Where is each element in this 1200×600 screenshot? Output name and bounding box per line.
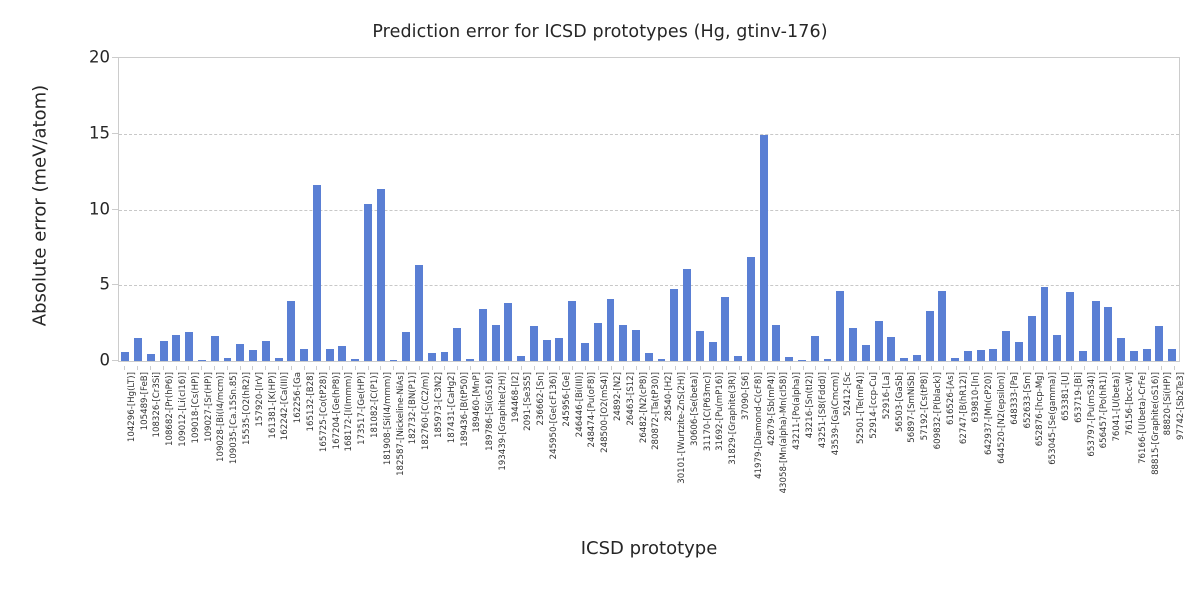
bar-slot <box>515 58 528 361</box>
x-tick-mark <box>1097 366 1098 370</box>
x-tick-mark <box>943 366 944 370</box>
x-tick-mark <box>777 366 778 370</box>
bar-slot <box>681 58 694 361</box>
bar <box>1130 351 1138 361</box>
y-tick-mark <box>112 360 118 361</box>
bar-series <box>119 58 1179 361</box>
bar-slot <box>821 58 834 361</box>
bar-slot <box>374 58 387 361</box>
x-tick-slot: 97742-[Sb2Te3] <box>1167 366 1180 526</box>
x-tick-mark <box>918 366 919 370</box>
x-tick-slot: 162256-[Ga <box>284 366 297 526</box>
x-tick-mark <box>150 366 151 370</box>
bar <box>121 352 129 361</box>
x-tick-mark <box>969 366 970 370</box>
bar <box>390 360 398 361</box>
bar <box>1104 307 1112 361</box>
bar-slot <box>898 58 911 361</box>
x-tick-mark <box>867 366 868 370</box>
bar-slot <box>451 58 464 361</box>
bar-slot <box>1127 58 1140 361</box>
bar-slot <box>745 58 758 361</box>
x-tick-mark <box>457 366 458 370</box>
bar <box>1066 292 1074 361</box>
x-tick-mark <box>726 366 727 370</box>
x-tick-mark <box>508 366 509 370</box>
x-tick-slot: 57192-[Cs(tP8)] <box>911 366 924 526</box>
bar-slot <box>885 58 898 361</box>
x-tick-slot: 109018-[Cs(HP)] <box>182 366 195 526</box>
x-tick-slot: 280872-[Ta(tP30)] <box>643 366 656 526</box>
x-tick-mark <box>419 366 420 370</box>
bar <box>441 352 449 361</box>
x-tick-mark <box>739 366 740 370</box>
bar-slot <box>1115 58 1128 361</box>
x-tick-mark <box>675 366 676 370</box>
bar <box>849 328 857 361</box>
bar <box>262 341 270 361</box>
y-tick-label: 5 <box>20 275 110 294</box>
bar-slot <box>847 58 860 361</box>
bar <box>900 358 908 361</box>
bar <box>658 359 666 361</box>
bar-slot <box>528 58 541 361</box>
x-tick-slot: 161381-[K(HP)] <box>259 366 272 526</box>
bar-slot <box>642 58 655 361</box>
x-tick-slot: 43251-[S8(Fddd)] <box>809 366 822 526</box>
x-tick-slot: 189436-[B(tP50)] <box>451 366 464 526</box>
bar <box>734 356 742 361</box>
x-tick-slot: 248474-[Pu(oF8)] <box>579 366 592 526</box>
x-tick-mark <box>521 366 522 370</box>
x-tick-mark <box>278 366 279 370</box>
bar <box>709 342 717 361</box>
bar <box>275 358 283 361</box>
x-tick-slot: 52914-[ccp-Cu] <box>860 366 873 526</box>
bar <box>172 335 180 361</box>
x-axis-ticks: 104296-[Hg(LT)]105489-[FeB]108326-[Cr3Si… <box>118 366 1180 526</box>
x-tick-mark <box>559 366 560 370</box>
bar <box>198 360 206 361</box>
bar <box>760 135 768 361</box>
bar <box>236 344 244 361</box>
x-tick-mark <box>1161 366 1162 370</box>
x-tick-slot: 652633-[Sm] <box>1014 366 1027 526</box>
bar-slot <box>706 58 719 361</box>
bar <box>1053 335 1061 362</box>
x-tick-mark <box>931 366 932 370</box>
bar <box>402 332 410 361</box>
x-tick-mark <box>496 366 497 370</box>
bar <box>1117 338 1125 361</box>
x-tick-slot: 37090-[S6] <box>732 366 745 526</box>
bar-slot <box>1000 58 1013 361</box>
y-tick-mark <box>112 209 118 210</box>
bar-slot <box>949 58 962 361</box>
bar <box>811 336 819 361</box>
bar-slot <box>259 58 272 361</box>
x-tick-slot: 88820-[Si(HP)] <box>1155 366 1168 526</box>
x-tick-slot: 642937-[Mn(cP20)] <box>975 366 988 526</box>
bar <box>351 359 359 361</box>
x-tick-mark <box>803 366 804 370</box>
x-tick-mark <box>982 366 983 370</box>
x-tick-slot: 30606-[Se(beta)] <box>681 366 694 526</box>
bar <box>683 269 691 361</box>
x-tick-slot: 52501-[Te(mP4)] <box>847 366 860 526</box>
x-tick-slot: 248500-[O2(mS4)] <box>591 366 604 526</box>
x-tick-mark <box>585 366 586 370</box>
x-tick-slot: 157920-[IrV] <box>246 366 259 526</box>
bar-slot <box>349 58 362 361</box>
bar-slot <box>323 58 336 361</box>
x-tick-slot: 105489-[FeB] <box>131 366 144 526</box>
x-tick-slot: 194468-[I2] <box>502 366 515 526</box>
x-tick-slot: 109028-[Bi(I4/mcm)] <box>208 366 221 526</box>
x-tick-mark <box>176 366 177 370</box>
bar-slot <box>591 58 604 361</box>
bar-slot <box>502 58 515 361</box>
x-tick-slot: 26463-[S12] <box>617 366 630 526</box>
chart-figure: Prediction error for ICSD prototypes (Hg… <box>0 0 1200 600</box>
bar-slot <box>1038 58 1051 361</box>
x-tick-slot: 162242-[Ca(III)] <box>272 366 285 526</box>
x-tick-mark <box>163 366 164 370</box>
bar <box>1015 342 1023 361</box>
x-tick-mark <box>214 366 215 370</box>
bar <box>1092 301 1100 361</box>
x-tick-mark <box>815 366 816 370</box>
x-tick-slot: 245956-[Ge] <box>553 366 566 526</box>
x-tick-mark <box>1071 366 1072 370</box>
bar-slot <box>987 58 1000 361</box>
x-tick-slot: 656457-[Po(hR1)] <box>1091 366 1104 526</box>
x-tick-slot: 28540-[H2] <box>655 366 668 526</box>
x-tick-mark <box>879 366 880 370</box>
y-tick-mark <box>112 284 118 285</box>
plot-area <box>118 57 1180 362</box>
bar-slot <box>336 58 349 361</box>
x-tick-slot: 43216-[Sn(tI2)] <box>796 366 809 526</box>
x-tick-slot: 109027-[Sr(HP)] <box>195 366 208 526</box>
bar-slot <box>285 58 298 361</box>
bar-slot <box>476 58 489 361</box>
y-tick-label: 15 <box>20 123 110 142</box>
x-tick-slot: 168172-[I(Immm)] <box>336 366 349 526</box>
y-tick-label: 20 <box>20 48 110 67</box>
bar-slot <box>400 58 413 361</box>
bar-slot <box>1025 58 1038 361</box>
bar-slot <box>1089 58 1102 361</box>
x-tick-slot: 652876-[hcp-Mg] <box>1027 366 1040 526</box>
bar <box>721 297 729 361</box>
bar <box>249 350 257 361</box>
y-tick-label: 10 <box>20 199 110 218</box>
x-tick-slot: 43058-[Mn(alpha)-Mn(cI58)] <box>771 366 784 526</box>
bar <box>594 323 602 361</box>
x-tick-slot: 167204-[Ge(hP8)] <box>323 366 336 526</box>
bar <box>1028 316 1036 361</box>
bar <box>517 356 525 361</box>
bar-slot <box>183 58 196 361</box>
bar-slot <box>362 58 375 361</box>
x-tick-mark <box>892 366 893 370</box>
bar <box>453 328 461 361</box>
x-tick-mark <box>124 366 125 370</box>
x-tick-slot: 653719-[Bi] <box>1065 366 1078 526</box>
x-tick-slot: 165132-[B28] <box>297 366 310 526</box>
x-tick-slot: 15535-[O2(hR2)] <box>233 366 246 526</box>
bar <box>338 346 346 361</box>
x-tick-label: 97742-[Sb2Te3] <box>1177 372 1186 440</box>
bar <box>543 340 551 362</box>
bar <box>568 301 576 361</box>
bar-slot <box>1166 58 1179 361</box>
bar <box>670 289 678 361</box>
x-tick-slot: 182587-[Nickeline-NiAs] <box>387 366 400 526</box>
bar <box>504 303 512 361</box>
bar-slot <box>247 58 260 361</box>
x-tick-slot: 181082-[C(P1)] <box>361 366 374 526</box>
bar <box>1168 349 1176 361</box>
x-tick-mark <box>201 366 202 370</box>
bar <box>696 331 704 361</box>
bar-slot <box>157 58 170 361</box>
bar <box>492 325 500 361</box>
bar-slot <box>1140 58 1153 361</box>
x-tick-mark <box>470 366 471 370</box>
bar <box>1143 349 1151 361</box>
bar <box>875 321 883 361</box>
x-tick-mark <box>662 366 663 370</box>
x-tick-mark <box>751 366 752 370</box>
x-tick-mark <box>623 366 624 370</box>
x-tick-slot: 76041-[U(beta)] <box>1103 366 1116 526</box>
bar-slot <box>693 58 706 361</box>
bar <box>989 349 997 361</box>
x-tick-mark <box>1110 366 1111 370</box>
x-tick-slot: 52916-[La] <box>873 366 886 526</box>
bar-slot <box>655 58 668 361</box>
x-tick-slot: 62747-[B(hR12)] <box>950 366 963 526</box>
bar-slot <box>796 58 809 361</box>
bar <box>287 301 295 361</box>
x-tick-slot: 56503-[GaSb] <box>886 366 899 526</box>
bar-slot <box>834 58 847 361</box>
x-tick-slot: 56897-[SmNiSb] <box>899 366 912 526</box>
bar <box>300 349 308 361</box>
x-tick-mark <box>611 366 612 370</box>
bar-slot <box>413 58 426 361</box>
x-tick-slot: 24892-[N2] <box>604 366 617 526</box>
bar <box>747 257 755 361</box>
bar-slot <box>770 58 783 361</box>
bar <box>785 357 793 361</box>
bar <box>836 291 844 361</box>
x-tick-mark <box>572 366 573 370</box>
x-tick-mark <box>713 366 714 370</box>
x-tick-slot: 639810-[In] <box>963 366 976 526</box>
x-tick-mark <box>329 366 330 370</box>
bar <box>977 350 985 361</box>
bar-slot <box>489 58 502 361</box>
bar <box>632 330 640 361</box>
bar <box>619 325 627 361</box>
bar <box>824 359 832 361</box>
bar-slot <box>387 58 400 361</box>
bar <box>134 338 142 361</box>
x-tick-slot: 109012-[Li(cI16)] <box>169 366 182 526</box>
x-tick-slot: 2091-[Se3S5] <box>515 366 528 526</box>
bar-slot <box>221 58 234 361</box>
x-tick-slot: 181908-[Si(I4/mmm)] <box>374 366 387 526</box>
bar-slot <box>783 58 796 361</box>
bar-slot <box>1051 58 1064 361</box>
x-tick-slot: 653045-[Se(gamma)] <box>1039 366 1052 526</box>
x-tick-slot: 88815-[Graphite(oS16)] <box>1142 366 1155 526</box>
bar <box>530 326 538 361</box>
x-tick-slot: 31170-[C(P63mc)] <box>694 366 707 526</box>
bar <box>160 341 168 361</box>
bar <box>772 325 780 361</box>
bar-slot <box>553 58 566 361</box>
bar-slot <box>808 58 821 361</box>
x-tick-mark <box>1148 366 1149 370</box>
x-tick-mark <box>380 366 381 370</box>
x-tick-slot: 653797-[Pu(mS34)] <box>1078 366 1091 526</box>
bar <box>1079 351 1087 361</box>
bar-slot <box>566 58 579 361</box>
x-tick-mark <box>316 366 317 370</box>
x-tick-slot: 52412-[Sc <box>835 366 848 526</box>
x-tick-slot: 109035-[Ca.15Sn.85] <box>220 366 233 526</box>
x-tick-slot: 648333-[Pa] <box>1001 366 1014 526</box>
bar <box>938 291 946 361</box>
bar-slot <box>196 58 209 361</box>
x-tick-mark <box>1084 366 1085 370</box>
x-tick-mark <box>432 366 433 370</box>
bar <box>581 343 589 361</box>
bar <box>313 185 321 361</box>
bar-slot <box>145 58 158 361</box>
bar <box>377 189 385 361</box>
x-tick-slot: 31692-[Pu(mP16)] <box>707 366 720 526</box>
bar-slot <box>579 58 592 361</box>
bar-slot <box>310 58 323 361</box>
x-tick-mark <box>636 366 637 370</box>
bar <box>415 265 423 361</box>
x-tick-slot: 616526-[As] <box>937 366 950 526</box>
x-tick-mark <box>406 366 407 370</box>
x-tick-mark <box>1059 366 1060 370</box>
x-tick-mark <box>393 366 394 370</box>
x-tick-mark <box>1046 366 1047 370</box>
bar-slot <box>1153 58 1166 361</box>
chart-title: Prediction error for ICSD prototypes (Hg… <box>0 22 1200 42</box>
bar-slot <box>974 58 987 361</box>
x-tick-mark <box>649 366 650 370</box>
x-tick-slot: 42679-[Sb(mP4)] <box>758 366 771 526</box>
x-tick-slot: 173517-[Ge(HP)] <box>348 366 361 526</box>
bar <box>1002 331 1010 361</box>
bar-slot <box>170 58 183 361</box>
x-tick-mark <box>342 366 343 370</box>
bar-slot <box>719 58 732 361</box>
x-tick-mark <box>137 366 138 370</box>
x-tick-slot: 31829-[Graphite(3R)] <box>719 366 732 526</box>
bar-slot <box>438 58 451 361</box>
bar <box>887 337 895 361</box>
x-tick-mark <box>240 366 241 370</box>
x-tick-mark <box>841 366 842 370</box>
x-tick-slot: 653381-[U] <box>1052 366 1065 526</box>
bar-slot <box>872 58 885 361</box>
x-tick-mark <box>252 366 253 370</box>
y-tick-mark <box>112 133 118 134</box>
bar-slot <box>298 58 311 361</box>
bar-slot <box>604 58 617 361</box>
x-tick-mark <box>687 366 688 370</box>
x-tick-mark <box>1123 366 1124 370</box>
bar <box>428 353 436 361</box>
x-tick-slot: 187431-[CaHg2] <box>438 366 451 526</box>
bar <box>185 332 193 361</box>
x-tick-slot: 193439-[Graphite(2H)] <box>489 366 502 526</box>
x-tick-mark <box>483 366 484 370</box>
x-tick-mark <box>227 366 228 370</box>
x-tick-mark <box>790 366 791 370</box>
x-axis-label: ICSD prototype <box>118 538 1180 559</box>
bar-slot <box>425 58 438 361</box>
bar-slot <box>757 58 770 361</box>
bar-slot <box>923 58 936 361</box>
x-tick-slot: 182760-[C(C2/m)] <box>412 366 425 526</box>
x-tick-mark <box>355 366 356 370</box>
bar-slot <box>936 58 949 361</box>
bar-slot <box>540 58 553 361</box>
bar <box>1041 287 1049 361</box>
x-tick-slot: 43539-[Ga(Cmcm)] <box>822 366 835 526</box>
bar-slot <box>859 58 872 361</box>
bar <box>951 358 959 361</box>
x-tick-slot: 108326-[Cr3Si] <box>144 366 157 526</box>
bar <box>607 299 615 361</box>
x-tick-slot: 189786-[Si(oS16)] <box>476 366 489 526</box>
bar-slot <box>272 58 285 361</box>
y-tick-mark <box>112 57 118 58</box>
bar-slot <box>119 58 132 361</box>
bar <box>147 354 155 361</box>
bar <box>926 311 934 361</box>
bar <box>964 351 972 361</box>
x-tick-slot: 108682-[Pr(hP6)] <box>156 366 169 526</box>
bar-slot <box>668 58 681 361</box>
x-tick-slot: 644520-[N2(epsilon)] <box>988 366 1001 526</box>
bar-slot <box>1102 58 1115 361</box>
x-tick-mark <box>854 366 855 370</box>
bar <box>224 358 232 361</box>
x-tick-slot: 189460-[MnP] <box>464 366 477 526</box>
bar-slot <box>132 58 145 361</box>
x-tick-mark <box>1174 366 1175 370</box>
bar <box>466 359 474 361</box>
bar-slot <box>962 58 975 361</box>
x-tick-slot: 26482-[N2(cP8)] <box>630 366 643 526</box>
x-tick-mark <box>188 366 189 370</box>
bar <box>798 360 806 362</box>
x-tick-slot: 609832-[P(black)] <box>924 366 937 526</box>
bar <box>913 355 921 361</box>
